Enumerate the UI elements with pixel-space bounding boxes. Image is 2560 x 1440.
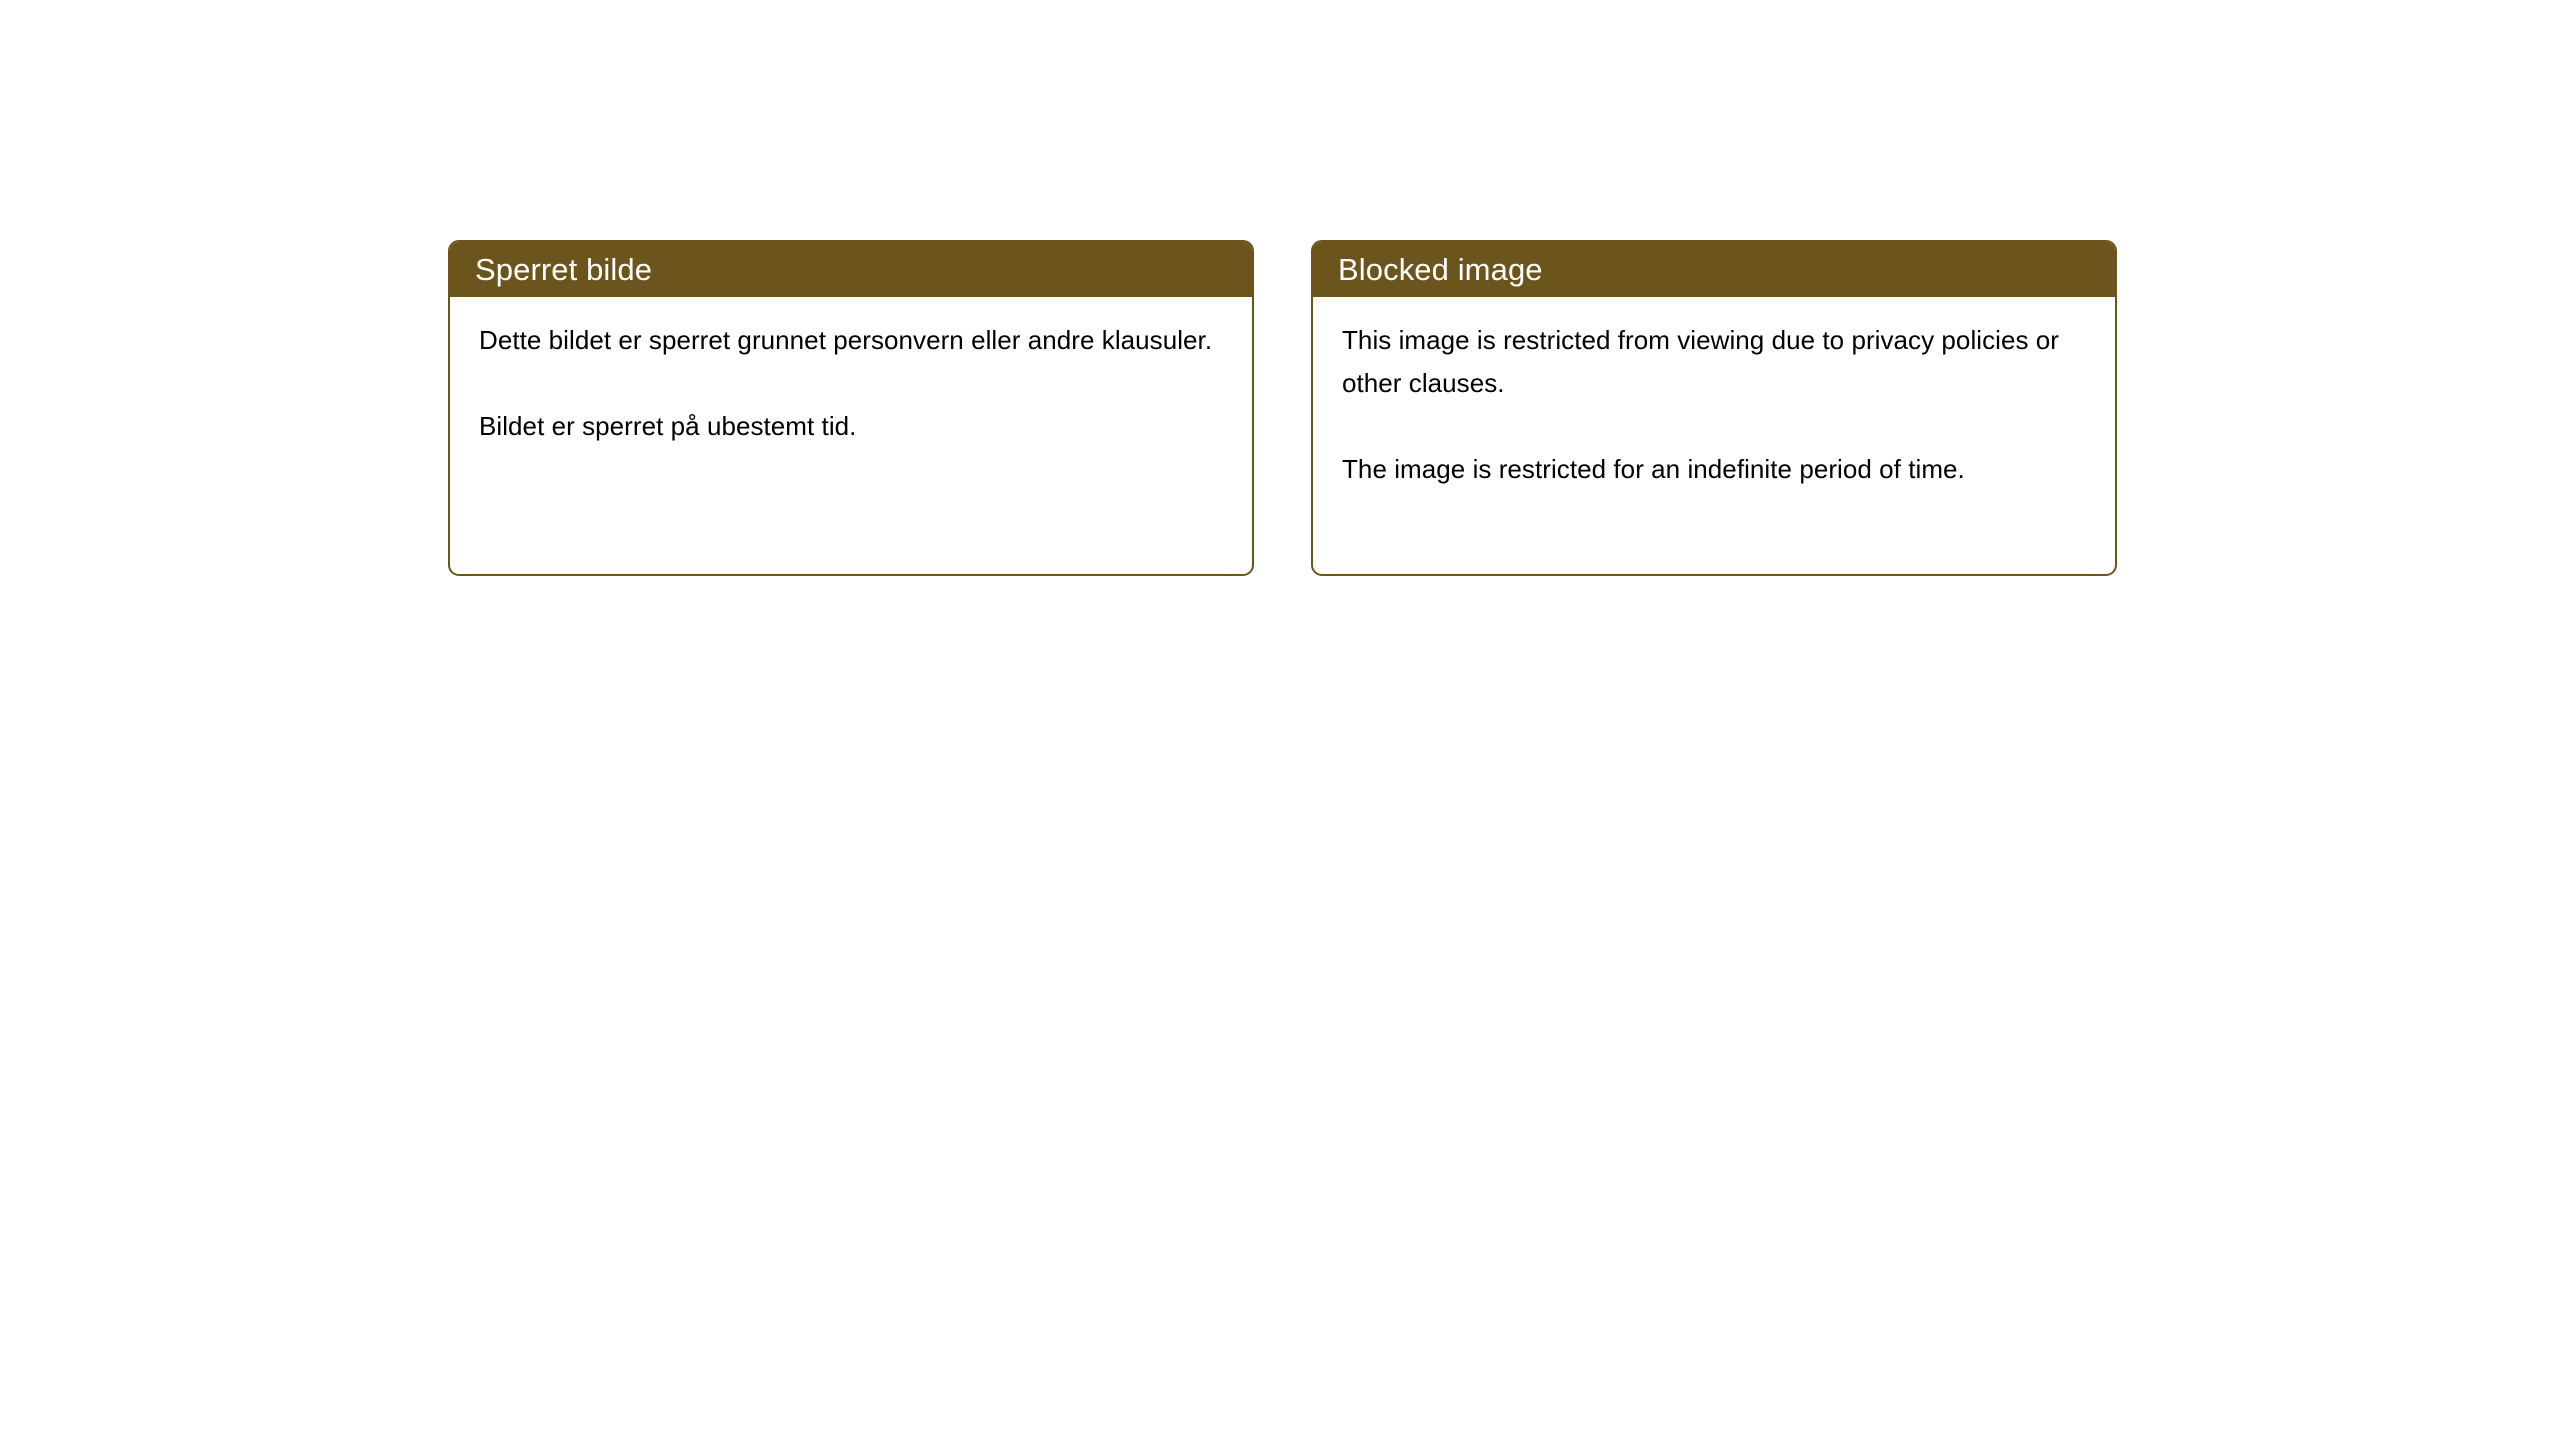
blocked-image-panel-english: Blocked image This image is restricted f… bbox=[1311, 240, 2117, 576]
panel-body-english: This image is restricted from viewing du… bbox=[1313, 297, 2115, 491]
panel-paragraph-reason-english: This image is restricted from viewing du… bbox=[1342, 319, 2089, 405]
panel-paragraph-duration-norwegian: Bildet er sperret på ubestemt tid. bbox=[479, 405, 1226, 448]
panel-header-norwegian: Sperret bilde bbox=[450, 242, 1252, 297]
panel-paragraph-reason-norwegian: Dette bildet er sperret grunnet personve… bbox=[479, 319, 1226, 362]
blocked-image-panel-norwegian: Sperret bilde Dette bildet er sperret gr… bbox=[448, 240, 1254, 576]
panel-title-english: Blocked image bbox=[1338, 254, 1543, 285]
panel-header-english: Blocked image bbox=[1313, 242, 2115, 297]
panel-body-norwegian: Dette bildet er sperret grunnet personve… bbox=[450, 297, 1252, 448]
panel-paragraph-duration-english: The image is restricted for an indefinit… bbox=[1342, 448, 2089, 491]
notice-stage: Sperret bilde Dette bildet er sperret gr… bbox=[0, 0, 2560, 1440]
panel-title-norwegian: Sperret bilde bbox=[475, 254, 652, 285]
